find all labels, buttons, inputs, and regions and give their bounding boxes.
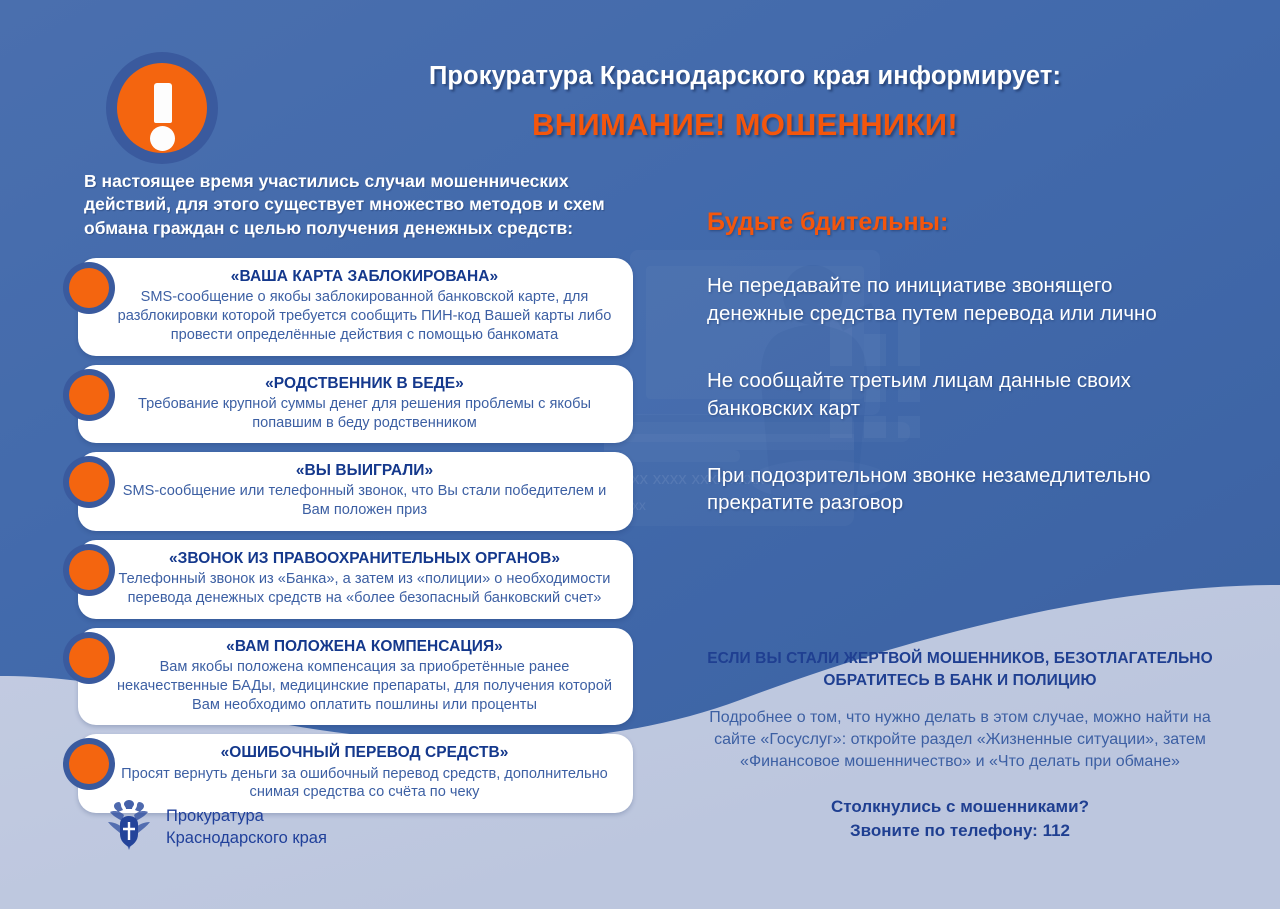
exclamation-icon-dot [150, 126, 175, 151]
poster-header: Прокуратура Краснодарского края информир… [240, 62, 1250, 143]
list-item: «ВЫ ВЫИГРАЛИ» SMS-сообщение или телефонн… [63, 452, 633, 531]
scheme-card: «ВАША КАРТА ЗАБЛОКИРОВАНА» SMS-сообщение… [78, 258, 633, 356]
scheme-card-title: «ВЫ ВЫИГРАЛИ» [114, 461, 615, 481]
safety-tip: При подозрительном звонке незамедлительн… [707, 462, 1207, 518]
scheme-card-title: «ОШИБОЧНЫЙ ПЕРЕВОД СРЕДСТВ» [114, 743, 615, 763]
safety-tip: Не сообщайте третьим лицам данные своих … [707, 367, 1207, 423]
exclamation-mark-icon [106, 52, 218, 164]
list-item: «РОДСТВЕННИК В БЕДЕ» Требование крупной … [63, 365, 633, 444]
bullet-dot-icon [63, 262, 115, 314]
scheme-card-body: Вам якобы положена компенсация за приобр… [114, 658, 615, 714]
victim-details: Подробнее о том, что нужно делать в этом… [690, 707, 1230, 773]
scheme-card-title: «ВАША КАРТА ЗАБЛОКИРОВАНА» [114, 267, 615, 287]
page-subtitle-warning: ВНИМАНИЕ! МОШЕННИКИ! [240, 107, 1250, 143]
bullet-dot-icon [63, 544, 115, 596]
emergency-cta-line2: Звоните по телефону: 112 [690, 819, 1230, 843]
exclamation-icon-stroke [154, 83, 172, 123]
scheme-card-body: SMS-сообщение или телефонный звонок, что… [114, 482, 615, 520]
list-item: «ЗВОНОК ИЗ ПРАВООХРАНИТЕЛЬНЫХ ОРГАНОВ» Т… [63, 540, 633, 619]
exclamation-icon-disc [117, 63, 207, 153]
fraud-schemes-list: «ВАША КАРТА ЗАБЛОКИРОВАНА» SMS-сообщение… [63, 258, 633, 822]
logo-text: Прокуратура Краснодарского края [166, 805, 327, 849]
scheme-card: «РОДСТВЕННИК В БЕДЕ» Требование крупной … [78, 365, 633, 444]
logo-line2: Краснодарского края [166, 827, 327, 849]
scheme-card-body: SMS-сообщение о якобы заблокированной ба… [114, 288, 615, 344]
scheme-card-body: Требование крупной суммы денег для решен… [114, 395, 615, 433]
safety-tip: Не передавайте по инициативе звонящего д… [707, 272, 1207, 328]
scheme-card-body: Телефонный звонок из «Банка», а затем из… [114, 570, 615, 608]
prosecutor-office-logo: Прокуратура Краснодарского края [104, 796, 327, 858]
double-headed-eagle-emblem-icon [104, 796, 154, 858]
scheme-card: «ВЫ ВЫИГРАЛИ» SMS-сообщение или телефонн… [78, 452, 633, 531]
emergency-cta: Столкнулись с мошенниками? Звоните по те… [690, 795, 1230, 843]
intro-paragraph: В настоящее время участились случаи моше… [84, 170, 624, 240]
emergency-cta-line1: Столкнулись с мошенниками? [690, 795, 1230, 819]
scheme-card-title: «РОДСТВЕННИК В БЕДЕ» [114, 374, 615, 394]
list-item: «ВАША КАРТА ЗАБЛОКИРОВАНА» SMS-сообщение… [63, 258, 633, 356]
victim-instructions-block: ЕСЛИ ВЫ СТАЛИ ЖЕРТВОЙ МОШЕННИКОВ, БЕЗОТЛ… [690, 648, 1230, 843]
safety-tips-list: Не передавайте по инициативе звонящего д… [707, 272, 1207, 556]
be-vigilant-heading: Будьте бдительны: [707, 208, 948, 237]
page-title: Прокуратура Краснодарского края информир… [240, 62, 1250, 91]
list-item: «ВАМ ПОЛОЖЕНА КОМПЕНСАЦИЯ» Вам якобы пол… [63, 628, 633, 726]
logo-line1: Прокуратура [166, 805, 327, 827]
scheme-card: «ВАМ ПОЛОЖЕНА КОМПЕНСАЦИЯ» Вам якобы пол… [78, 628, 633, 726]
bullet-dot-icon [63, 369, 115, 421]
bullet-dot-icon [63, 632, 115, 684]
victim-headline: ЕСЛИ ВЫ СТАЛИ ЖЕРТВОЙ МОШЕННИКОВ, БЕЗОТЛ… [690, 648, 1230, 693]
scheme-card-title: «ЗВОНОК ИЗ ПРАВООХРАНИТЕЛЬНЫХ ОРГАНОВ» [114, 549, 615, 569]
bullet-dot-icon [63, 456, 115, 508]
infographic-poster: хххх хххх хххх хххх хх/хх Прокуратура Кр… [0, 0, 1280, 909]
scheme-card-title: «ВАМ ПОЛОЖЕНА КОМПЕНСАЦИЯ» [114, 637, 615, 657]
scheme-card: «ЗВОНОК ИЗ ПРАВООХРАНИТЕЛЬНЫХ ОРГАНОВ» Т… [78, 540, 633, 619]
